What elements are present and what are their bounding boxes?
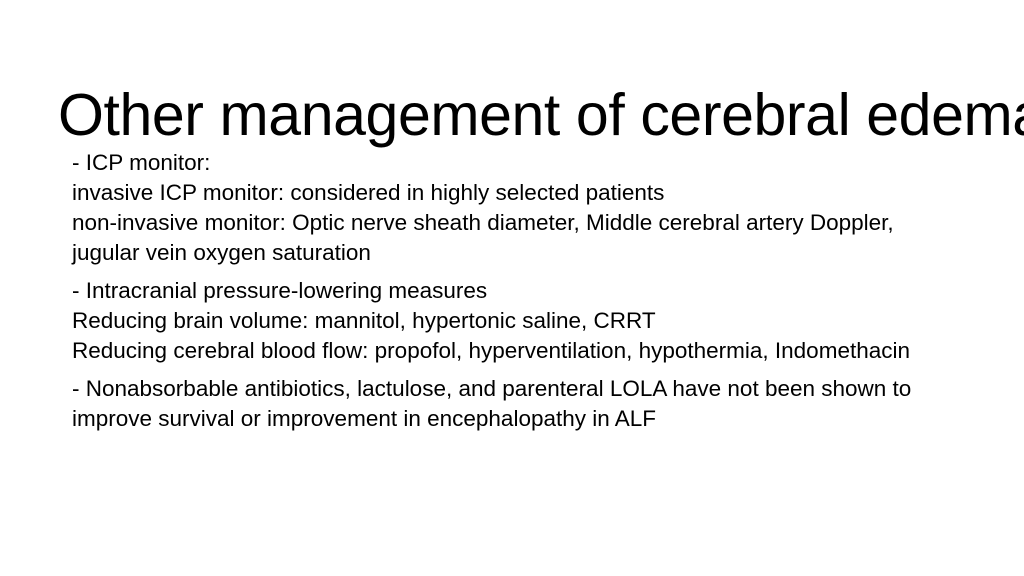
body-paragraph-intracranial-pressure-lowering-measures: - Intracranial pressure-lowering measure…: [72, 276, 954, 366]
slide-canvas: Other management of cerebral edema - ICP…: [0, 0, 1024, 576]
slide-body: - ICP monitor: invasive ICP monitor: con…: [72, 148, 954, 434]
body-paragraph-nonabsorbable-antibiotics: - Nonabsorbable antibiotics, lactulose, …: [72, 374, 954, 434]
page-title: Other management of cerebral edema: [58, 86, 978, 145]
body-paragraph-icp-monitor: - ICP monitor: invasive ICP monitor: con…: [72, 148, 954, 268]
